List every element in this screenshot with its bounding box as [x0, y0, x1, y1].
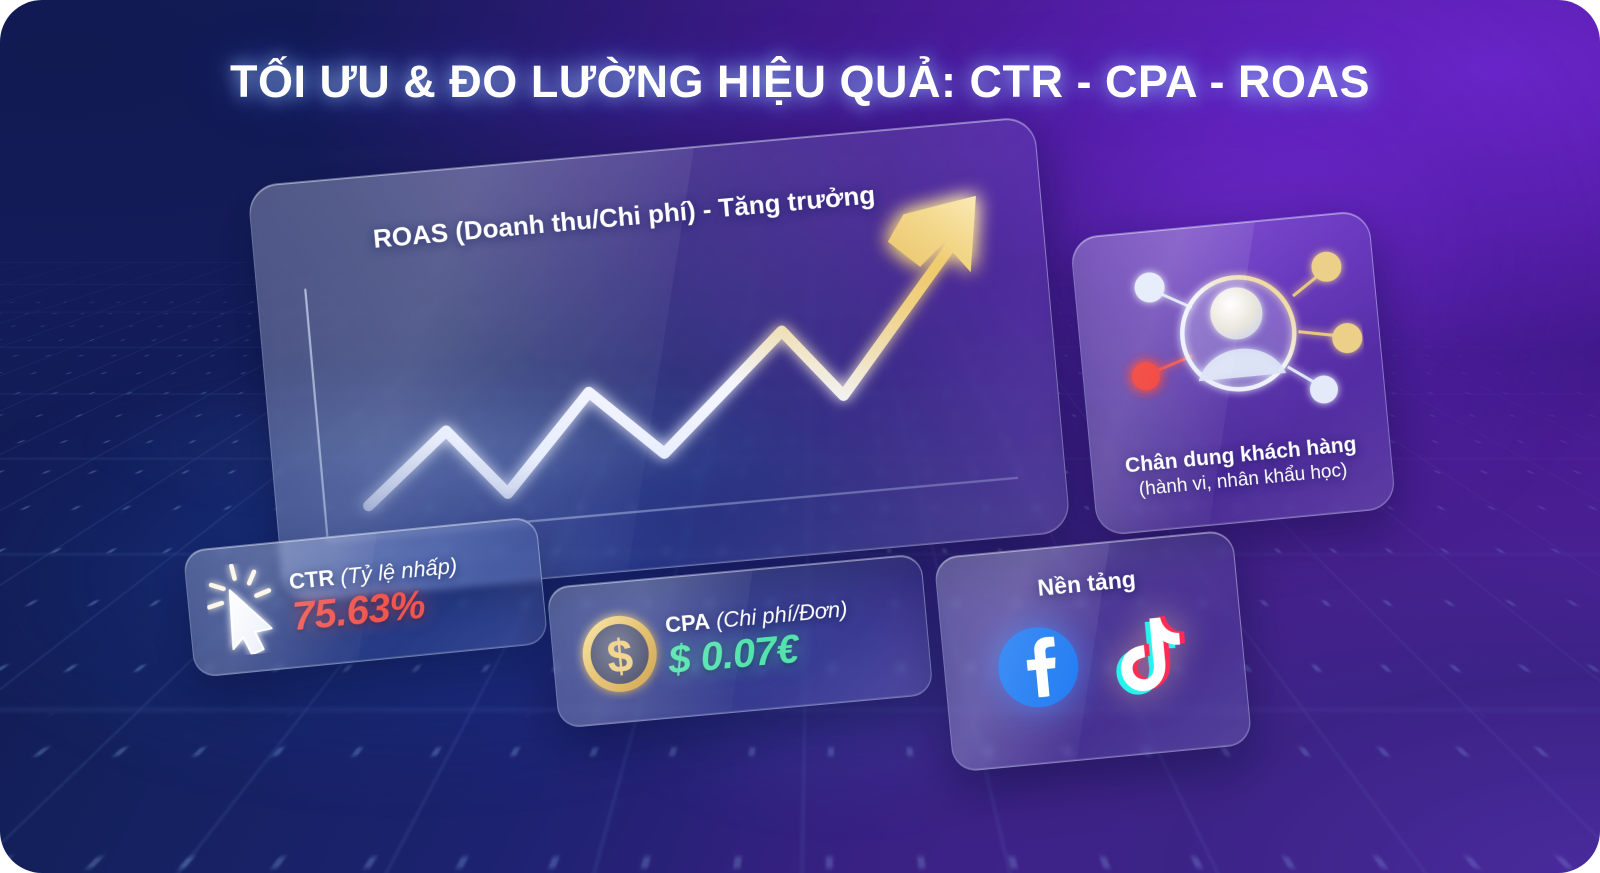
click-cursor-icon — [203, 559, 294, 659]
platform-title: Nền tảng — [937, 556, 1236, 611]
ctr-label-bold: CTR — [288, 565, 335, 594]
persona-card: Chân dung khách hàng (hành vi, nhân khẩu… — [1070, 210, 1397, 537]
cpa-text-block: CPA (Chi phí/Đơn) $ 0.07€ — [662, 591, 915, 682]
cpa-label-bold: CPA — [664, 609, 711, 638]
user-network-icon — [1090, 230, 1370, 432]
infographic-canvas: TỐI ƯU & ĐO LƯỜNG HIỆU QUẢ: CTR - CPA - … — [0, 0, 1600, 873]
ctr-text-block: CTR (Tỷ lệ nhấp) 75.63% — [286, 547, 529, 639]
gold-coin-dollar-icon: $ — [569, 600, 669, 704]
platform-logo-row — [941, 600, 1247, 724]
persona-caption: Chân dung khách hàng (hành vi, nhân khẩu… — [1091, 429, 1392, 508]
tiktok-logo[interactable] — [1097, 604, 1202, 709]
platform-card: Nền tảng — [934, 529, 1253, 772]
facebook-logo[interactable] — [986, 615, 1091, 720]
page-title: TỐI ƯU & ĐO LƯỜNG HIỆU QUẢ: CTR - CPA - … — [0, 56, 1600, 108]
cpa-card: $ CPA (Chi phí/Đơn) $ 0.07€ — [546, 553, 933, 728]
roas-chart — [248, 117, 1070, 601]
ctr-card: CTR (Tỷ lệ nhấp) 75.63% — [183, 516, 549, 678]
svg-text:$: $ — [605, 629, 635, 683]
roas-card: ROAS (Doanh thu/Chi phí) - Tăng trưởng — [247, 116, 1071, 603]
